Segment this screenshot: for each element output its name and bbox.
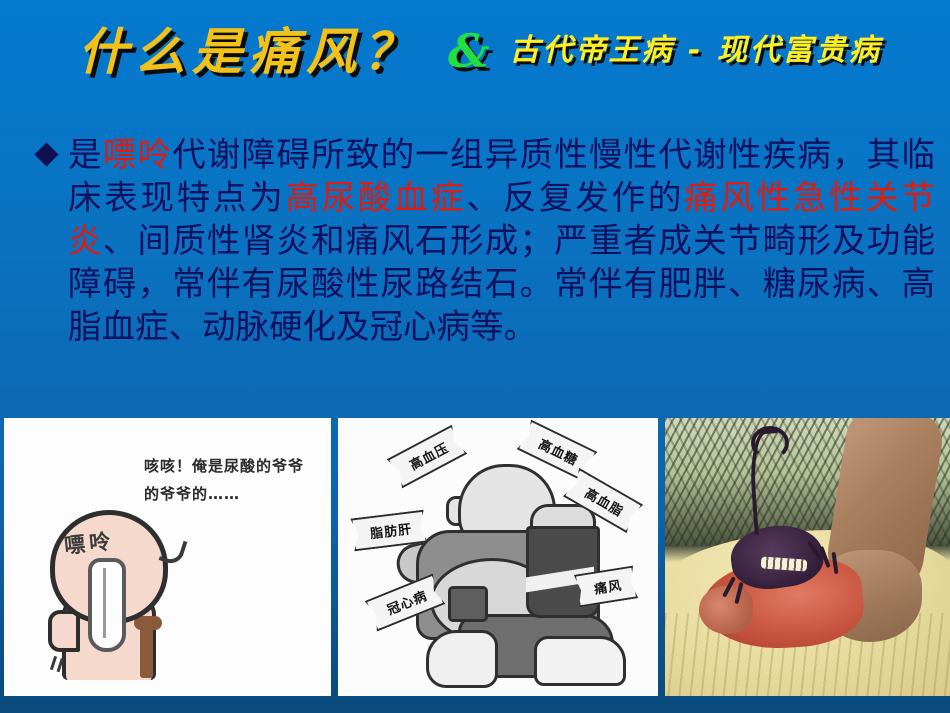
title-main-text: 什么是痛风？ [78, 22, 420, 81]
banner-hypertension: 高血压 [387, 425, 468, 489]
bullet-diamond-icon [30, 133, 68, 167]
speech-line-2: 的爷爷的…… [144, 480, 319, 508]
cartoon-cane [140, 622, 153, 678]
body-paragraph: 是嘌呤代谢障碍所致的一组异质性慢性代谢性疾病，其临床表现特点为高尿酸血症、反复发… [68, 133, 935, 348]
image-purine-grandpa-cartoon: 咳咳！俺是尿酸的爷爷 的爷爷的…… 嘌呤 [4, 418, 331, 696]
body-seg-3: 高尿酸血症 [285, 178, 466, 217]
title-subtitle-text: 古代帝王病 - 现代富贵病 [496, 33, 882, 68]
body-seg-6: 、间质性肾炎和痛风石形成；严重者成关节畸形及功能障碍，常伴有尿酸性尿路结石。常伴… [68, 221, 935, 346]
image-strip: 咳咳！俺是尿酸的爷爷 的爷爷的…… 嘌呤 [0, 418, 950, 696]
cartoon-speech-bubble-text: 咳咳！俺是尿酸的爷爷 的爷爷的…… [144, 452, 319, 508]
image-metabolic-syndrome-cartoon: 高血压 高血糖 高血脂 脂肪肝 冠心病 痛风 [338, 418, 658, 696]
gray-shoe-left [426, 630, 498, 688]
cartoon-beard [88, 558, 126, 652]
title-ampersand: & [420, 24, 496, 78]
slide-body: 是嘌呤代谢障碍所致的一组异质性慢性代谢性疾病，其临床表现特点为高尿酸血症、反复发… [30, 133, 935, 348]
gray-drink-cup [448, 586, 488, 622]
body-seg-1: 嘌呤 [103, 135, 172, 174]
gillray-demon-tail-curl [751, 426, 789, 460]
gray-shoe-right [534, 636, 626, 686]
body-seg-4: 、反复发作的 [467, 178, 684, 217]
slide-canvas: 什么是痛风？&古代帝王病 - 现代富贵病 是嘌呤代谢障碍所致的一组异质性慢性代谢… [0, 0, 950, 713]
cartoon-motion-tick-icon [50, 656, 57, 670]
bullet-row: 是嘌呤代谢障碍所致的一组异质性慢性代谢性疾病，其临床表现特点为高尿酸血症、反复发… [30, 133, 935, 348]
speech-line-1: 咳咳！俺是尿酸的爷爷 [144, 452, 319, 480]
body-seg-0: 是 [68, 135, 103, 174]
image-gout-demon-foot-caricature [665, 418, 950, 696]
slide-title: 什么是痛风？&古代帝王病 - 现代富贵病 [78, 26, 938, 77]
